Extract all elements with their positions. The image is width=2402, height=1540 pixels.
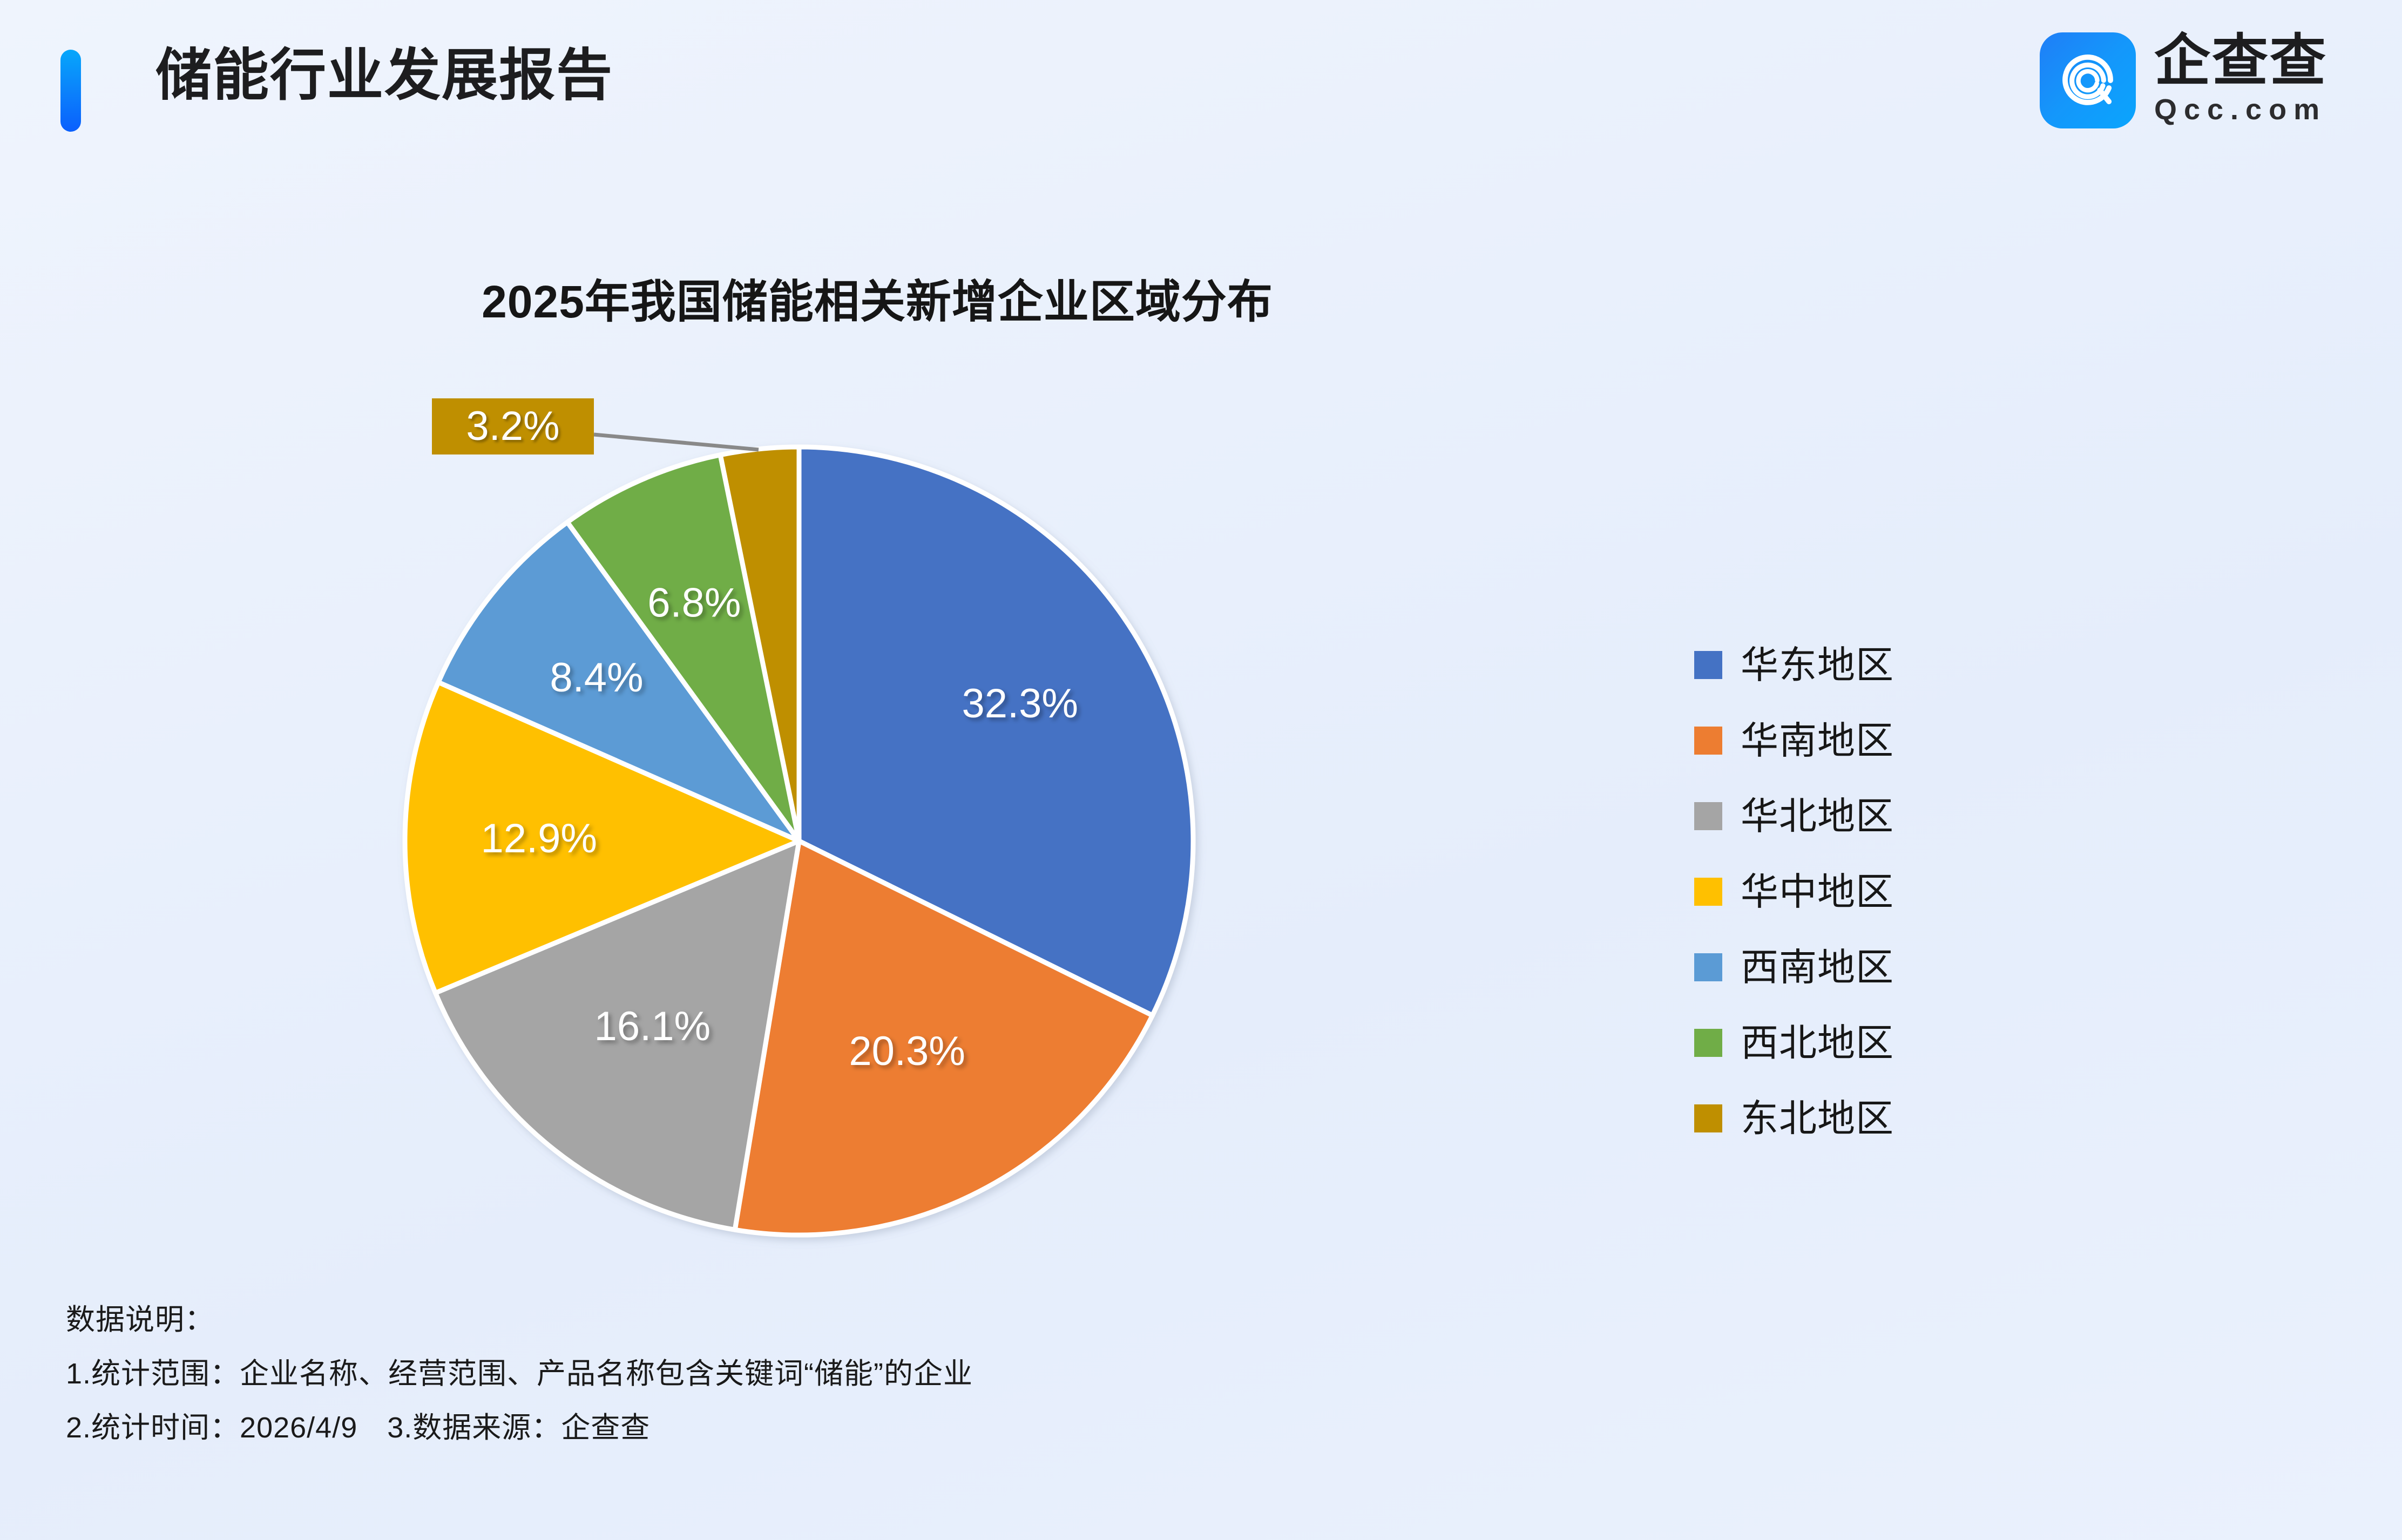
- brand-logo: 企查查 Qcc.com: [2040, 32, 2327, 128]
- header-accent-bar: [60, 50, 81, 132]
- pie-chart: 32.3%20.3%16.1%12.9%8.4%6.8%: [346, 378, 1263, 1285]
- page-title: 储能行业发展报告: [155, 42, 613, 110]
- qcc-spiral-logo-icon: [2040, 32, 2136, 128]
- legend-item[interactable]: 西北地区: [1694, 1016, 2072, 1070]
- pie-chart-svg: 32.3%20.3%16.1%12.9%8.4%6.8%: [346, 378, 1263, 1285]
- page-header: 储能行业发展报告 企查查 Qcc.com: [0, 0, 2402, 216]
- legend-item[interactable]: 华南地区: [1694, 714, 2072, 768]
- legend-color-swatch: [1694, 727, 1722, 755]
- pie-slice-label: 32.3%: [962, 681, 1078, 727]
- legend-color-swatch: [1694, 878, 1722, 906]
- legend-color-swatch: [1694, 802, 1722, 830]
- callout-box-northeast: 3.2%: [432, 398, 594, 454]
- legend-label: 西北地区: [1741, 1024, 1894, 1062]
- chart-title: 2025年我国储能相关新增企业区域分布: [0, 266, 1755, 331]
- brand-domain: Qcc.com: [2154, 92, 2327, 128]
- brand-name: 企查查: [2154, 32, 2327, 90]
- legend-label: 华东地区: [1741, 646, 1894, 684]
- legend-color-swatch: [1694, 1104, 1722, 1132]
- legend-label: 华南地区: [1741, 722, 1894, 759]
- legend-item[interactable]: 东北地区: [1694, 1091, 2072, 1145]
- legend-label: 华中地区: [1741, 873, 1894, 911]
- chart-legend: 华东地区华南地区华北地区华中地区西南地区西北地区东北地区: [1694, 638, 2072, 1167]
- legend-item[interactable]: 华北地区: [1694, 789, 2072, 843]
- notes-heading: 数据说明：: [66, 1305, 1686, 1334]
- callout-label: 3.2%: [466, 406, 559, 447]
- legend-item[interactable]: 华东地区: [1694, 638, 2072, 692]
- qcc-spiral-glyph: [2050, 43, 2126, 118]
- notes-line-2: 2.统计时间：2026/4/9 3.数据来源：企查查: [66, 1413, 1686, 1442]
- legend-label: 华北地区: [1741, 797, 1894, 835]
- notes-line-1: 1.统计范围：企业名称、经营范围、产品名称包含关键词“储能”的企业: [66, 1359, 1686, 1388]
- legend-item[interactable]: 西南地区: [1694, 940, 2072, 994]
- pie-slice-label: 12.9%: [481, 816, 597, 861]
- callout-leader-line: [594, 435, 759, 450]
- legend-color-swatch: [1694, 651, 1722, 679]
- pie-slice-label: 20.3%: [849, 1028, 965, 1074]
- legend-color-swatch: [1694, 1029, 1722, 1057]
- data-notes: 数据说明： 1.统计范围：企业名称、经营范围、产品名称包含关键词“储能”的企业 …: [66, 1305, 1686, 1442]
- pie-slice-label: 6.8%: [647, 580, 741, 626]
- pie-slice-label: 16.1%: [594, 1003, 711, 1049]
- legend-label: 东北地区: [1741, 1100, 1894, 1137]
- legend-item[interactable]: 华中地区: [1694, 865, 2072, 919]
- pie-slice-label: 8.4%: [550, 655, 643, 701]
- legend-label: 西南地区: [1741, 948, 1894, 986]
- legend-color-swatch: [1694, 953, 1722, 981]
- brand-text-block: 企查查 Qcc.com: [2154, 32, 2327, 128]
